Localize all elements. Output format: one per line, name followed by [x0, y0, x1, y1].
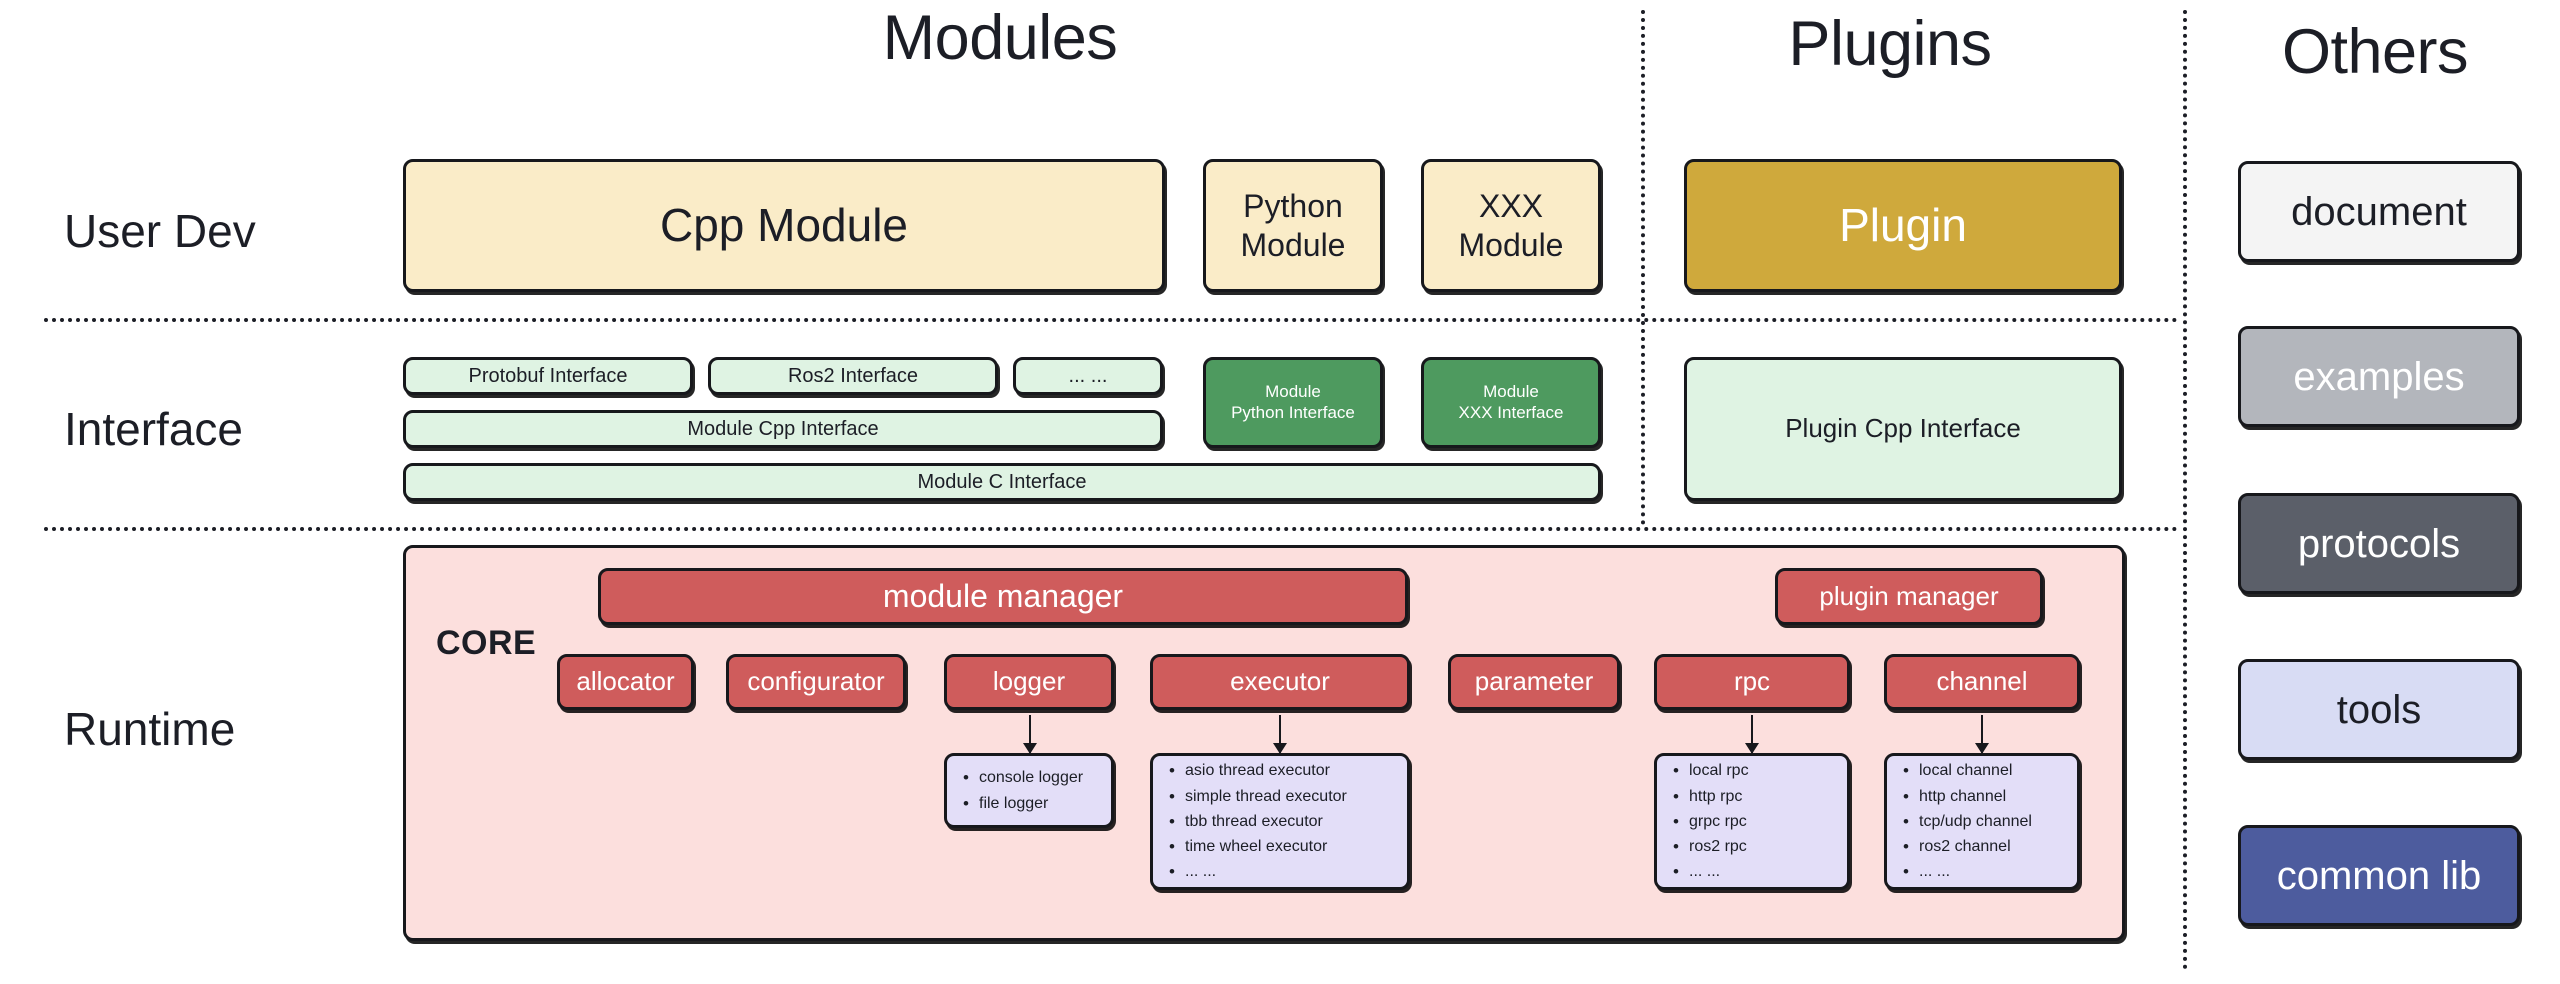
section-title-modules: Modules — [800, 2, 1200, 74]
section-title-plugins: Plugins — [1690, 8, 2090, 80]
channel-details-list: local channelhttp channeltcp/udp channel… — [1897, 758, 2069, 884]
plugin-box[interactable]: Plugin — [1684, 159, 2122, 292]
arrow-executor-to-details — [1272, 715, 1288, 753]
list-item: grpc rpc — [1689, 809, 1839, 834]
arrow-channel-to-details — [1974, 715, 1990, 753]
section-title-others: Others — [2190, 16, 2560, 88]
component-allocator[interactable]: allocator — [557, 654, 694, 710]
list-item: ros2 rpc — [1689, 834, 1839, 859]
list-item: simple thread executor — [1185, 784, 1399, 809]
divider-modules-plugins — [1641, 10, 1645, 525]
list-item: ... ... — [1185, 859, 1399, 884]
row-label-user-dev: User Dev — [64, 204, 256, 258]
rpc-details-box: local rpchttp rpcgrpc rpcros2 rpc... ... — [1654, 753, 1850, 890]
list-item: ros2 channel — [1919, 834, 2069, 859]
list-item: file logger — [979, 791, 1103, 816]
divider-userdev-interface — [44, 318, 2179, 322]
list-item: local rpc — [1689, 758, 1839, 783]
python-module-box[interactable]: Python Module — [1203, 159, 1383, 292]
list-item: time wheel executor — [1185, 834, 1399, 859]
list-item: local channel — [1919, 758, 2069, 783]
ellipsis-interface-box[interactable]: ... ... — [1013, 357, 1163, 395]
others-tools-box[interactable]: tools — [2238, 659, 2520, 760]
rpc-details-list: local rpchttp rpcgrpc rpcros2 rpc... ... — [1667, 758, 1839, 884]
module-c-interface-box[interactable]: Module C Interface — [403, 463, 1601, 501]
xxx-module-box[interactable]: XXX Module — [1421, 159, 1601, 292]
component-channel[interactable]: channel — [1884, 654, 2080, 710]
plugin-cpp-interface-box[interactable]: Plugin Cpp Interface — [1684, 357, 2122, 501]
module-manager-box[interactable]: module manager — [598, 568, 1408, 625]
logger-details-box: console loggerfile logger — [944, 753, 1114, 828]
arrow-logger-to-details — [1022, 715, 1038, 753]
others-common-lib-box[interactable]: common lib — [2238, 825, 2520, 926]
logger-details-list: console loggerfile logger — [957, 765, 1103, 816]
component-logger[interactable]: logger — [944, 654, 1114, 710]
protobuf-interface-box[interactable]: Protobuf Interface — [403, 357, 693, 395]
component-rpc[interactable]: rpc — [1654, 654, 1850, 710]
architecture-diagram: Modules Plugins Others User Dev Interfac… — [0, 0, 2560, 984]
list-item: http channel — [1919, 784, 2069, 809]
row-label-interface: Interface — [64, 402, 243, 456]
list-item: asio thread executor — [1185, 758, 1399, 783]
plugin-manager-box[interactable]: plugin manager — [1775, 568, 2043, 625]
module-cpp-interface-box[interactable]: Module Cpp Interface — [403, 410, 1163, 448]
arrow-rpc-to-details — [1744, 715, 1760, 753]
list-item: http rpc — [1689, 784, 1839, 809]
executor-details-box: asio thread executorsimple thread execut… — [1150, 753, 1410, 890]
cpp-module-box[interactable]: Cpp Module — [403, 159, 1165, 292]
ros2-interface-box[interactable]: Ros2 Interface — [708, 357, 998, 395]
core-label: CORE — [436, 624, 536, 663]
list-item: ... ... — [1919, 859, 2069, 884]
list-item: ... ... — [1689, 859, 1839, 884]
module-python-interface-box[interactable]: Module Python Interface — [1203, 357, 1383, 448]
divider-plugins-others — [2183, 10, 2187, 970]
component-executor[interactable]: executor — [1150, 654, 1410, 710]
component-parameter[interactable]: parameter — [1448, 654, 1620, 710]
others-protocols-box[interactable]: protocols — [2238, 493, 2520, 594]
row-label-runtime: Runtime — [64, 702, 235, 756]
others-examples-box[interactable]: examples — [2238, 326, 2520, 427]
module-xxx-interface-box[interactable]: Module XXX Interface — [1421, 357, 1601, 448]
list-item: console logger — [979, 765, 1103, 790]
executor-details-list: asio thread executorsimple thread execut… — [1163, 758, 1399, 884]
list-item: tcp/udp channel — [1919, 809, 2069, 834]
channel-details-box: local channelhttp channeltcp/udp channel… — [1884, 753, 2080, 890]
others-document-box[interactable]: document — [2238, 161, 2520, 262]
divider-interface-runtime — [44, 527, 2179, 531]
list-item: tbb thread executor — [1185, 809, 1399, 834]
component-configurator[interactable]: configurator — [726, 654, 906, 710]
